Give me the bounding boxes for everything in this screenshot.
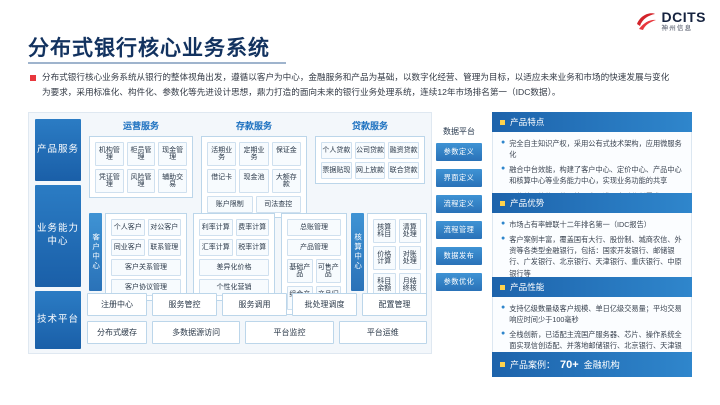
case-suffix: 金融机构 bbox=[584, 358, 620, 371]
data-platform-column: 数据平台 参数定义 界面定义 流程定义 流程管理 数据发布 参数优化 bbox=[436, 126, 482, 299]
chip[interactable]: 清算处理 bbox=[399, 219, 422, 243]
brand-sub: 神州信息 bbox=[662, 26, 707, 33]
bullet-dot-icon: ● bbox=[501, 303, 505, 325]
chip[interactable]: 对账处理 bbox=[399, 246, 422, 270]
title-divider bbox=[28, 62, 286, 64]
chip[interactable]: 价格计算 bbox=[373, 246, 396, 270]
chip[interactable]: 客户关系管理 bbox=[111, 259, 181, 276]
platform-cell[interactable]: 服务调用 bbox=[222, 293, 287, 316]
bullet-dot-icon: ● bbox=[501, 234, 505, 279]
intro-block: 分布式银行核心业务系统从银行的整体视角出发，遵循以客户为中心，金融服务和产品为基… bbox=[30, 70, 690, 100]
side-label-tech-platform: 技术平台 bbox=[35, 291, 81, 349]
zone-title: 贷款服务 bbox=[315, 119, 425, 132]
panel-item-text: 完全自主知识产权，采用公有式技术架构，应用微服务化 bbox=[509, 138, 683, 160]
side-label-ability-center: 业务能力中心 bbox=[35, 185, 81, 287]
chip[interactable]: 对公客户 bbox=[148, 219, 182, 236]
chip[interactable]: 现金池 bbox=[239, 169, 268, 193]
case-label: 产品案例： bbox=[510, 358, 555, 371]
chip[interactable]: 利率计算 bbox=[199, 219, 233, 236]
data-platform-item[interactable]: 参数优化 bbox=[436, 273, 482, 291]
chip[interactable]: 账户限制 bbox=[207, 196, 253, 213]
vstrip-accounting-center: 核算中心 bbox=[351, 213, 364, 291]
chip[interactable]: 费率计算 bbox=[236, 219, 270, 236]
platform-label-cache[interactable]: 分布式缓存 bbox=[87, 321, 147, 344]
data-platform-item[interactable]: 流程定义 bbox=[436, 195, 482, 213]
chip[interactable]: 融资贷款 bbox=[388, 142, 419, 159]
chip[interactable]: 基础产品 bbox=[287, 259, 313, 283]
ability-block-accounting: 核算科目 清算处理 价格计算 对账处理 科目余额 月结终核 bbox=[367, 213, 427, 302]
chip[interactable]: 汇率计算 bbox=[199, 239, 233, 256]
chip[interactable]: 公司贷款 bbox=[355, 142, 386, 159]
chip[interactable]: 可售产品 bbox=[316, 259, 342, 283]
panel-item-text: 支持亿级数量级客户规模、单日亿级交易量；平均交易响应时间少于100毫秒 bbox=[509, 303, 683, 325]
bullet-square-icon bbox=[500, 285, 505, 290]
bullet-square-icon bbox=[500, 201, 505, 206]
chip[interactable]: 辅助交易 bbox=[158, 169, 187, 193]
chip[interactable]: 司法查控 bbox=[256, 196, 302, 213]
ability-block-customer: 个人客户 对公客户 同业客户 联系管理 客户关系管理 客户协议管理 bbox=[105, 213, 187, 301]
page-title: 分布式银行核心业务系统 bbox=[28, 32, 270, 62]
platform-row-1: 注册中心 服务管控 服务调用 批处理调度 配置管理 bbox=[87, 293, 427, 316]
bullet-dot-icon: ● bbox=[501, 138, 505, 160]
platform-cell[interactable]: 平台运维 bbox=[339, 321, 427, 344]
diagram-side-column: 产品服务 业务能力中心 技术平台 bbox=[35, 119, 81, 349]
data-platform-item[interactable]: 界面定义 bbox=[436, 169, 482, 187]
chip[interactable]: 活期业务 bbox=[207, 142, 236, 166]
panel-item-text: 市场占有率蝉联十二年排名第一（IDC报告） bbox=[509, 219, 651, 230]
panel-header: 产品性能 bbox=[492, 277, 692, 297]
bullet-dot-icon: ● bbox=[501, 164, 505, 186]
panel-item-text: 客户案例丰富，覆盖国有大行、股份制、城商农信、外资等各类型金融银行，包括：国家开… bbox=[509, 234, 683, 279]
tech-platform-block: 注册中心 服务管控 服务调用 批处理调度 配置管理 分布式缓存 多数据源访问 平… bbox=[87, 293, 427, 344]
chip[interactable]: 现金管理 bbox=[158, 142, 187, 166]
platform-cell[interactable]: 配置管理 bbox=[362, 293, 427, 316]
ability-block-pricing: 利率计算 费率计算 汇率计算 税率计算 差异化价格 个性化营销 bbox=[193, 213, 275, 301]
panel-item-text: 融合中台效能，构建了客户中心、定价中心、产品中心和核算中心等业务能力中心，实现业… bbox=[509, 164, 683, 186]
panel-header: 产品优势 bbox=[492, 193, 692, 213]
chip[interactable]: 联系管理 bbox=[148, 239, 182, 256]
chip[interactable]: 凭证管理 bbox=[95, 169, 124, 193]
bullet-square-icon bbox=[500, 362, 505, 367]
brand-logo: DCITS 神州信息 bbox=[635, 10, 707, 33]
intro-line-1: 分布式银行核心业务系统从银行的整体视角出发，遵循以客户为中心，金融服务和产品为基… bbox=[42, 70, 669, 85]
chip[interactable]: 个人贷款 bbox=[321, 142, 352, 159]
chip[interactable]: 产品管理 bbox=[287, 239, 341, 256]
chip[interactable]: 风险管理 bbox=[127, 169, 156, 193]
zone-operation-service: 运营服务 机构管理 柜员管理 现金管理 凭证管理 风险管理 辅助交易 bbox=[89, 119, 193, 198]
intro-line-2: 为要求，采用标准化、构件化、参数化等先进设计思想，鼎力打造的面向未来的银行业务处… bbox=[42, 85, 669, 100]
chip[interactable]: 定期业务 bbox=[239, 142, 268, 166]
platform-cell[interactable]: 平台监控 bbox=[245, 321, 333, 344]
vstrip-label: 客户中心 bbox=[91, 233, 99, 271]
brand-name: DCITS bbox=[662, 10, 707, 24]
panel-list-item: ● 融合中台效能，构建了客户中心、定价中心、产品中心和核算中心等业务能力中心，实… bbox=[501, 164, 683, 186]
panel-list-item: ● 市场占有率蝉联十二年排名第一（IDC报告） bbox=[501, 219, 683, 230]
architecture-diagram: 产品服务 业务能力中心 技术平台 运营服务 机构管理 柜员管理 现金管理 凭证管… bbox=[28, 112, 432, 354]
chip[interactable]: 借记卡 bbox=[207, 169, 236, 193]
bullet-square-icon bbox=[30, 75, 36, 81]
chip[interactable]: 个人客户 bbox=[111, 219, 145, 236]
zone-title: 存款服务 bbox=[201, 119, 307, 132]
data-platform-item[interactable]: 参数定义 bbox=[436, 143, 482, 161]
zone-loan-service: 贷款服务 个人贷款 公司贷款 融资贷款 票据贴现 网上放款 联合贷款 bbox=[315, 119, 425, 184]
platform-cell[interactable]: 服务管控 bbox=[152, 293, 217, 316]
panel-list-item: ● 客户案例丰富，覆盖国有大行、股份制、城商农信、外资等各类型金融银行，包括：国… bbox=[501, 234, 683, 279]
panel-product-advantages: 产品优势 ● 市场占有率蝉联十二年排名第一（IDC报告） ● 客户案例丰富，覆盖… bbox=[492, 193, 692, 287]
data-platform-item[interactable]: 数据发布 bbox=[436, 247, 482, 265]
chip[interactable]: 差异化价格 bbox=[199, 259, 269, 276]
chip[interactable]: 核算科目 bbox=[373, 219, 396, 243]
panel-list-item: ● 支持亿级数量级客户规模、单日亿级交易量；平均交易响应时间少于100毫秒 bbox=[501, 303, 683, 325]
panel-title: 产品特点 bbox=[510, 116, 544, 128]
chip[interactable]: 税率计算 bbox=[236, 239, 270, 256]
panel-header: 产品特点 bbox=[492, 112, 692, 132]
dcits-swoosh-logo bbox=[635, 10, 657, 32]
panel-title: 产品性能 bbox=[510, 281, 544, 293]
chip[interactable]: 大额存款 bbox=[272, 169, 301, 193]
platform-cell[interactable]: 多数据源访问 bbox=[152, 321, 240, 344]
data-platform-title: 数据平台 bbox=[436, 126, 482, 137]
bullet-dot-icon: ● bbox=[501, 219, 505, 230]
chip[interactable]: 柜员管理 bbox=[127, 142, 156, 166]
chip[interactable]: 总账管理 bbox=[287, 219, 341, 236]
vstrip-customer-center: 客户中心 bbox=[89, 213, 102, 291]
panel-title: 产品优势 bbox=[510, 197, 544, 209]
zone-title: 运营服务 bbox=[89, 119, 193, 132]
chip[interactable]: 机构管理 bbox=[95, 142, 124, 166]
chip[interactable]: 联合贷款 bbox=[388, 162, 419, 179]
chip[interactable]: 票据贴现 bbox=[321, 162, 352, 179]
case-value: 70+ bbox=[560, 359, 579, 371]
vstrip-label: 核算中心 bbox=[353, 233, 361, 271]
side-label-product-service: 产品服务 bbox=[35, 119, 81, 181]
chip[interactable]: 保证金 bbox=[272, 142, 301, 166]
zone-deposit-service: 存款服务 活期业务 定期业务 保证金 借记卡 现金池 大额存款 账户限制 司法查… bbox=[201, 119, 307, 218]
chip[interactable]: 同业客户 bbox=[111, 239, 145, 256]
chip[interactable]: 网上放款 bbox=[355, 162, 386, 179]
platform-label-register[interactable]: 注册中心 bbox=[87, 293, 147, 316]
platform-cell[interactable]: 批处理调度 bbox=[292, 293, 357, 316]
slide-root: DCITS 神州信息 分布式银行核心业务系统 分布式银行核心业务系统从银行的整体… bbox=[0, 0, 720, 405]
data-platform-item[interactable]: 流程管理 bbox=[436, 221, 482, 239]
bullet-square-icon bbox=[500, 120, 505, 125]
platform-row-2: 分布式缓存 多数据源访问 平台监控 平台运维 bbox=[87, 321, 427, 344]
panel-list-item: ● 完全自主知识产权，采用公有式技术架构，应用微服务化 bbox=[501, 138, 683, 160]
case-banner: 产品案例： 70+ 金融机构 bbox=[492, 352, 692, 377]
